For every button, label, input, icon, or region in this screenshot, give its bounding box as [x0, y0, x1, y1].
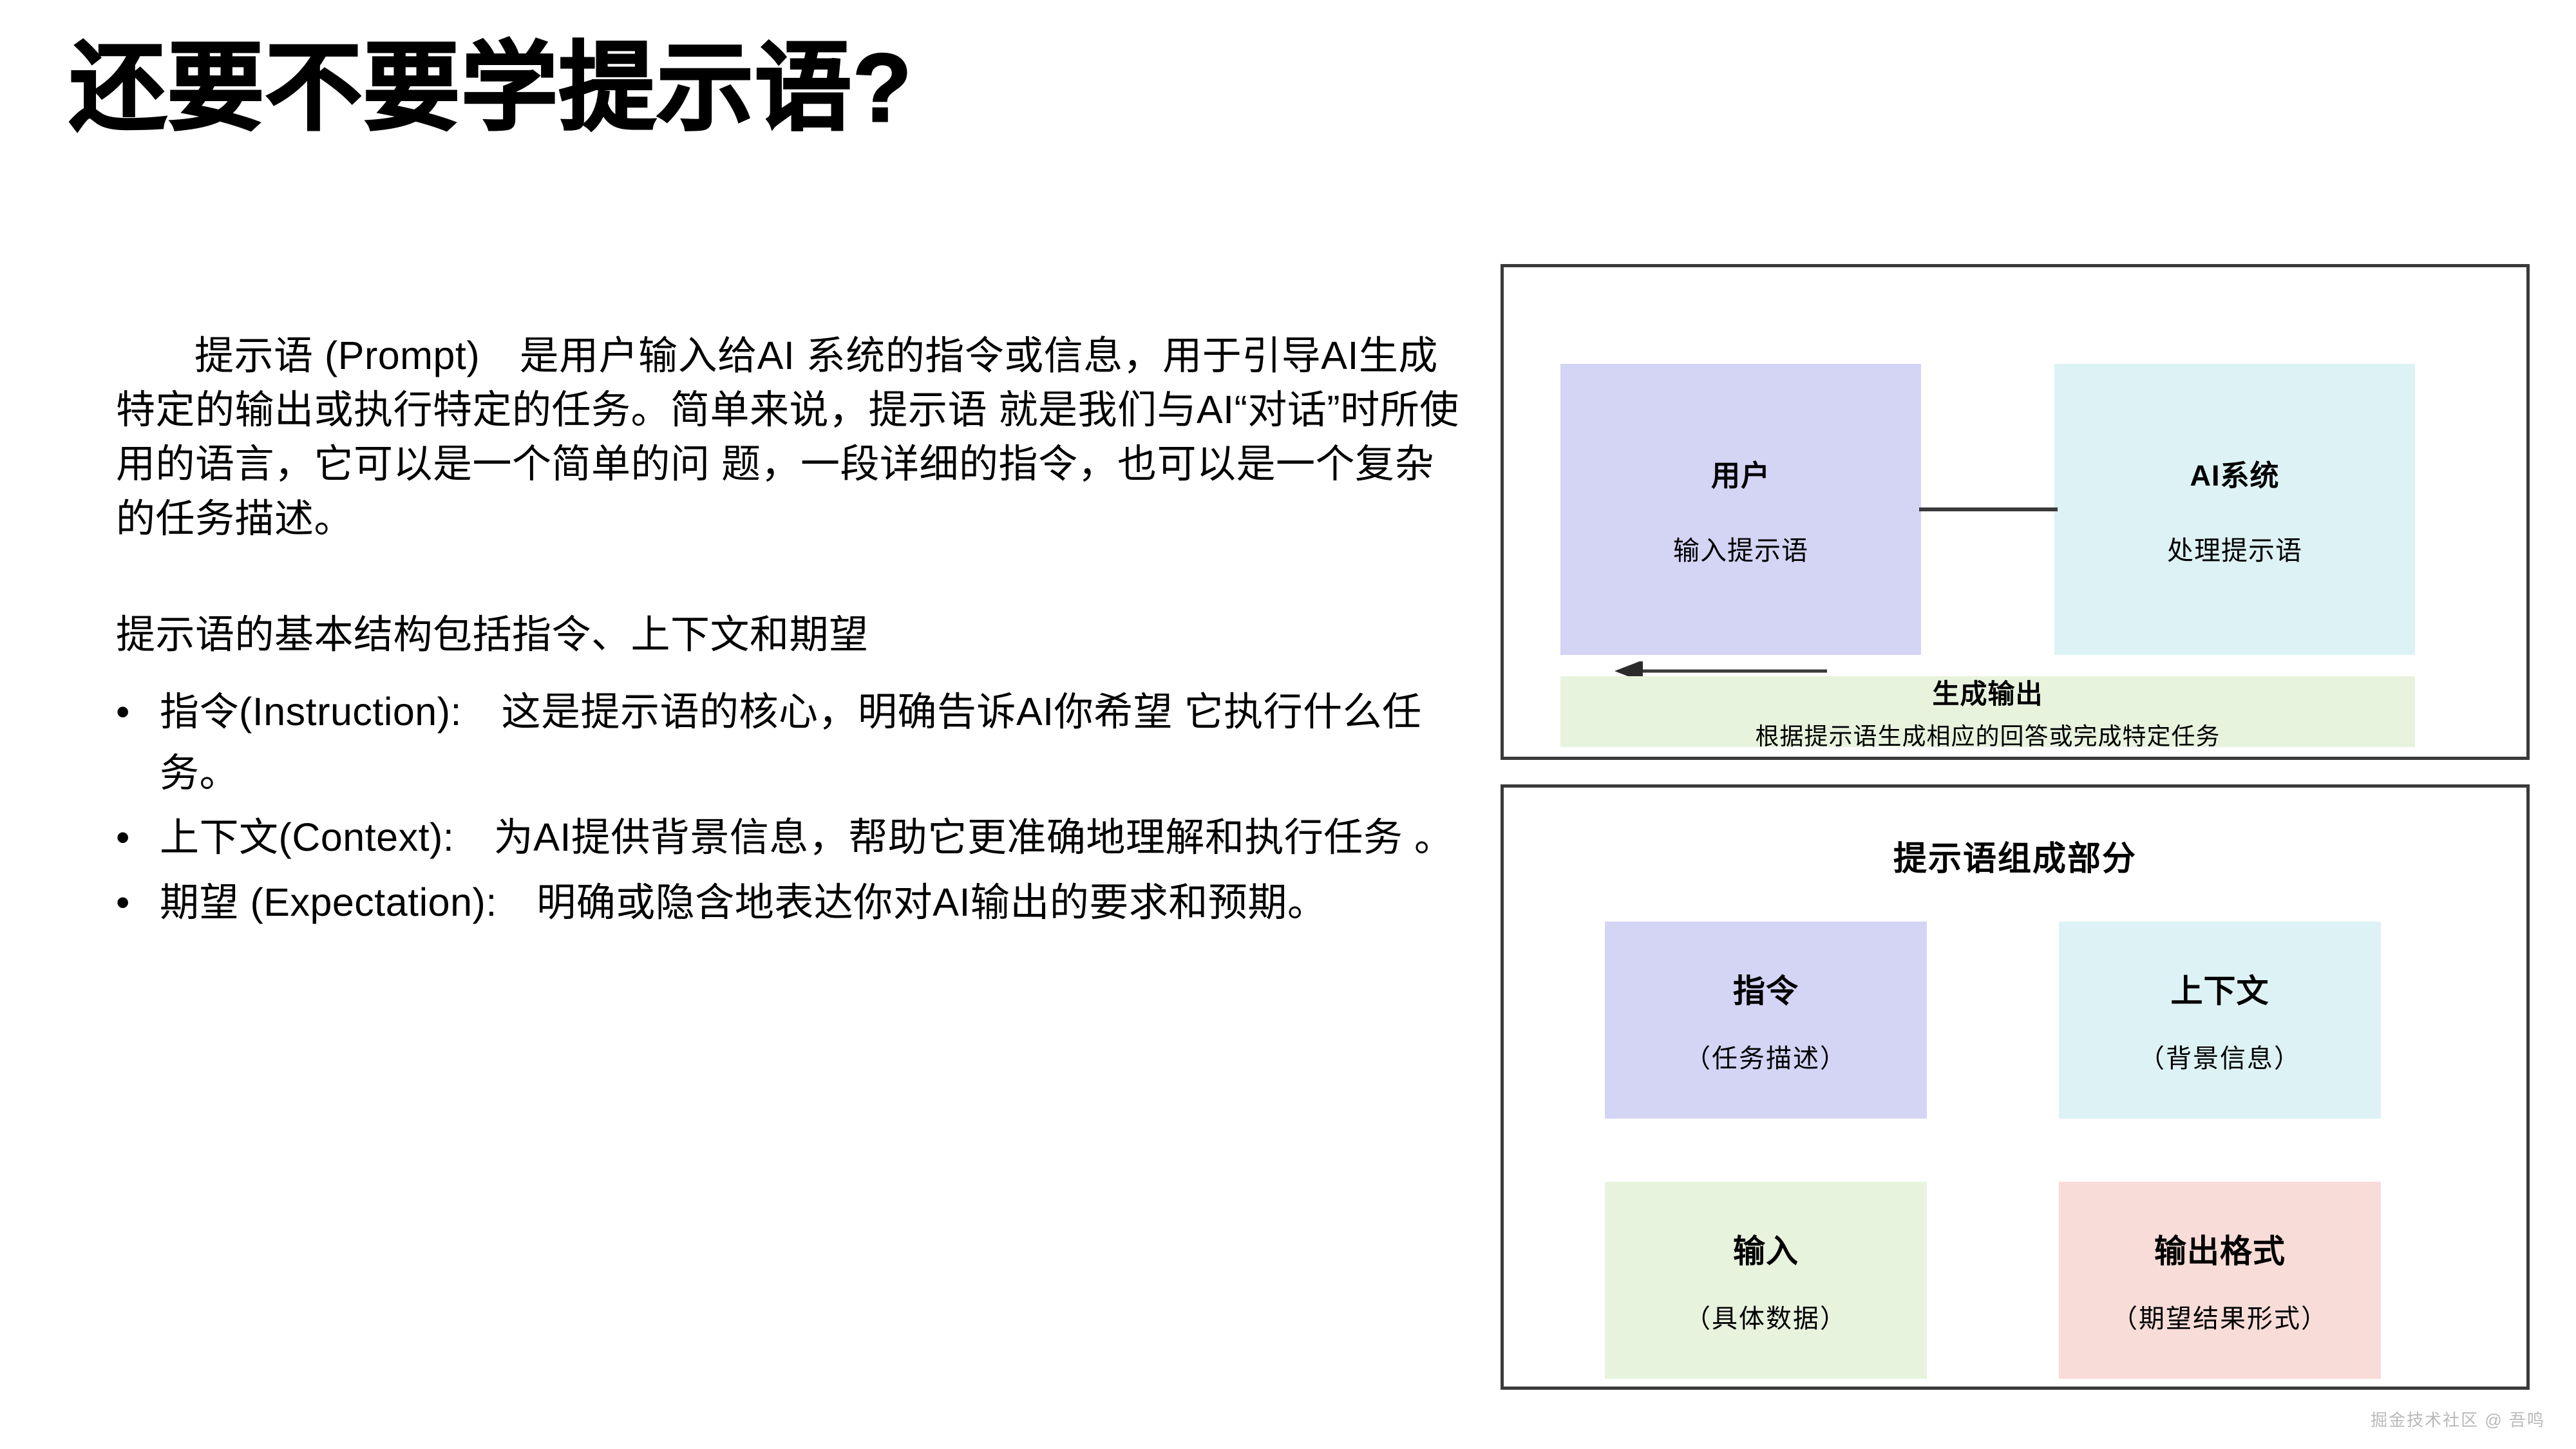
flow-box-ai-system-subtitle: 处理提示语 — [2167, 529, 2302, 567]
flow-box-user-title: 用户 — [1711, 452, 1770, 494]
parts-diagram-title: 提示语组成部分 — [1504, 831, 2526, 880]
parts-diagram-panel: 提示语组成部分 指令 （任务描述） 上下文 （背景信息） 输入 （具体数据） 输… — [1501, 784, 2530, 1390]
flow-box-ai-system-title: AI系统 — [2190, 452, 2279, 494]
parts-card-context-subtitle: （背景信息） — [2139, 1037, 2301, 1075]
parts-card-output-format: 输出格式 （期望结果形式） — [2059, 1182, 2381, 1379]
flow-box-output-subtitle: 根据提示语生成相应的回答或完成特定任务 — [1756, 717, 2221, 752]
structure-heading: 提示语的基本结构包括指令、上下文和期望 — [116, 607, 1462, 662]
connector-line-icon — [1919, 507, 2058, 511]
parts-card-input-title: 输入 — [1733, 1226, 1799, 1272]
parts-card-instruction: 指令 （任务描述） — [1605, 922, 1927, 1119]
flow-box-ai-system: AI系统 处理提示语 — [2054, 364, 2415, 655]
flow-box-output-title: 生成输出 — [1932, 672, 2043, 712]
parts-card-context: 上下文 （背景信息） — [2059, 922, 2381, 1119]
parts-card-instruction-title: 指令 — [1733, 965, 1799, 1012]
parts-card-input: 输入 （具体数据） — [1605, 1182, 1927, 1379]
list-item: • 上下文(Context): 为AI提供背景信息，帮助它更准确地理解和执行任务… — [116, 807, 1462, 868]
parts-card-output-format-subtitle: （期望结果形式） — [2112, 1298, 2328, 1335]
body-text-column: 提示语 (Prompt) 是用户输入给AI 系统的指令或信息，用于引导AI生成特… — [116, 328, 1462, 936]
list-item: • 指令(Instruction): 这是提示语的核心，明确告诉AI你希望 它执… — [116, 681, 1462, 803]
parts-card-output-format-title: 输出格式 — [2154, 1226, 2286, 1272]
bullet-marker-icon: • — [116, 872, 160, 933]
parts-card-context-title: 上下文 — [2171, 965, 2269, 1012]
list-item: • 期望 (Expectation): 明确或隐含地表达你对AI输出的要求和预期… — [116, 872, 1462, 933]
flow-diagram-panel: 用户 输入提示语 AI系统 处理提示语 生成输出 根据提示语生成相应的回答或完成… — [1501, 264, 2530, 760]
parts-card-input-subtitle: （具体数据） — [1685, 1298, 1847, 1335]
list-item-label: 指令(Instruction): 这是提示语的核心，明确告诉AI你希望 它执行什… — [160, 681, 1462, 803]
list-item-label: 上下文(Context): 为AI提供背景信息，帮助它更准确地理解和执行任务 。 — [160, 807, 1462, 868]
list-item-label: 期望 (Expectation): 明确或隐含地表达你对AI输出的要求和预期。 — [160, 872, 1462, 933]
page-title: 还要不要学提示语? — [70, 33, 913, 142]
slide-canvas: 还要不要学提示语? 提示语 (Prompt) 是用户输入给AI 系统的指令或信息… — [0, 0, 2576, 1449]
watermark: 掘金技术社区 @ 吾鸣 — [2371, 1407, 2545, 1431]
flow-box-output: 生成输出 根据提示语生成相应的回答或完成特定任务 — [1560, 676, 2415, 747]
intro-paragraph: 提示语 (Prompt) 是用户输入给AI 系统的指令或信息，用于引导AI生成特… — [116, 328, 1462, 545]
bullet-marker-icon: • — [116, 681, 160, 743]
flow-box-user-subtitle: 输入提示语 — [1673, 529, 1808, 567]
flow-box-user: 用户 输入提示语 — [1560, 364, 1921, 655]
bullet-marker-icon: • — [116, 807, 160, 868]
parts-card-instruction-subtitle: （任务描述） — [1685, 1037, 1847, 1075]
